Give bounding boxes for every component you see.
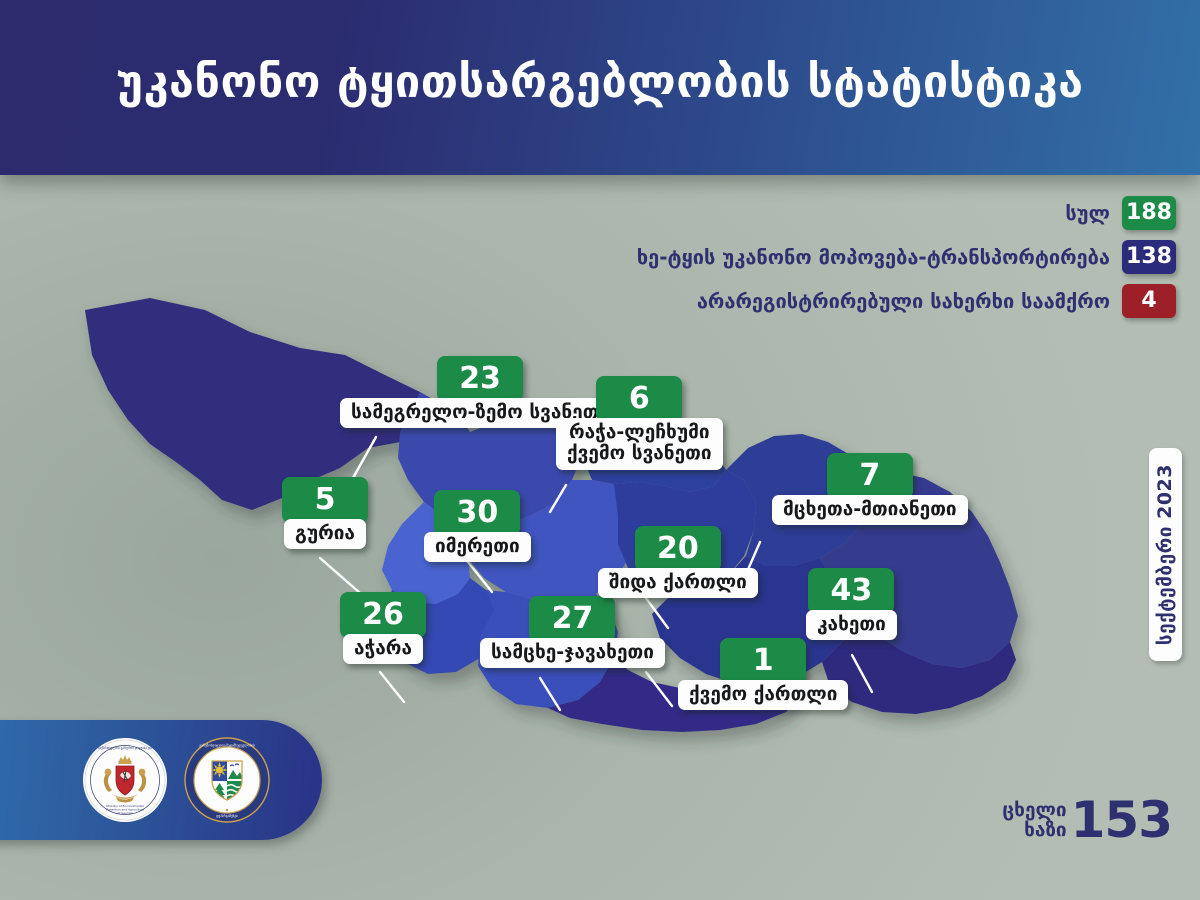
marker-value-adjara: 26: [340, 592, 426, 638]
marker-label-line1: რაჭა-ლეჩხუმი: [567, 422, 712, 443]
marker-label-kakheti: კახეთი: [806, 610, 897, 640]
marker-label-adjara: აჭარა: [343, 634, 423, 664]
marker-label-racha-lechkhumi-kvemo-svaneti: რაჭა-ლეჩხუმი ქვემო სვანეთი: [556, 418, 723, 470]
hotline-number: 153: [1071, 799, 1172, 842]
marker-mtskheta-mtianeti[interactable]: 7 მცხეთა-მთიანეთი: [772, 453, 968, 525]
marker-value-mtskheta-mtianeti: 7: [827, 453, 913, 499]
legend-row-total: სულ 188: [1065, 196, 1176, 230]
marker-value-imereti: 30: [434, 490, 520, 536]
hotline-line2: ხაზი: [1024, 821, 1067, 840]
legend-label-unregistered-sawmill: არარეგისტრირებული სახერხი საამქრო: [697, 291, 1110, 311]
marker-value-shida-kartli: 20: [635, 526, 721, 572]
legend-row-illegal-logging-transport: ხე-ტყის უკანონო მოპოვება-ტრანსპორტირება …: [637, 240, 1176, 274]
marker-value-guria: 5: [282, 477, 368, 523]
legend-badge-unregistered-sawmill: 4: [1122, 284, 1176, 318]
marker-racha-lechkhumi-kvemo-svaneti[interactable]: 6 რაჭა-ლეჩხუმი ქვემო სვანეთი: [556, 376, 723, 470]
marker-label-mtskheta-mtianeti: მცხეთა-მთიანეთი: [772, 495, 968, 525]
legend: სულ 188 ხე-ტყის უკანონო მოპოვება-ტრანსპო…: [637, 196, 1176, 318]
marker-label-guria: გურია: [284, 519, 366, 549]
legend-label-total: სულ: [1065, 203, 1110, 223]
date-tab: სექტემბერი 2023: [1149, 448, 1182, 661]
svg-text:დეპარტამენტი: დეპარტამენტი: [216, 814, 238, 818]
marker-label-samtskhe-javakheti: სამცხე-ჯავახეთი: [480, 638, 665, 668]
marker-label-shida-kartli: შიდა ქართლი: [598, 568, 758, 598]
marker-kakheti[interactable]: 43 კახეთი: [806, 568, 897, 640]
marker-guria[interactable]: 5 გურია: [282, 477, 368, 549]
marker-value-kakheti: 43: [808, 568, 894, 614]
hotline-words: ცხელი ხაზი: [1002, 801, 1066, 840]
marker-value-racha-lechkhumi-kvemo-svaneti: 6: [596, 376, 682, 422]
marker-value-kvemo-kartli: 1: [720, 638, 806, 684]
marker-imereti[interactable]: 30 იმერეთი: [424, 490, 531, 562]
header-banner: უკანონო ტყითსარგებლობის სტატისტიკა: [0, 0, 1200, 175]
marker-adjara[interactable]: 26 აჭარა: [340, 592, 426, 664]
ministry-of-environmental-protection-and-agriculture-of-georgia-seal: საქართველოს გარემოს დაცვისა და Ministry …: [82, 737, 168, 823]
marker-label-imereti: იმერეთი: [424, 532, 531, 562]
hotline-line1: ცხელი: [1002, 801, 1066, 820]
legend-badge-illegal-logging-transport: 138: [1122, 240, 1176, 274]
marker-label-line2: ქვემო სვანეთი: [567, 443, 712, 464]
marker-kvemo-kartli[interactable]: 1 ქვემო ქართლი: [678, 638, 848, 710]
svg-text:საქართველოს გარემოს დაცვისა და: საქართველოს გარემოს დაცვისა და: [98, 746, 153, 750]
legend-label-illegal-logging-transport: ხე-ტყის უკანონო მოპოვება-ტრანსპორტირება: [637, 247, 1110, 267]
marker-shida-kartli[interactable]: 20 შიდა ქართლი: [598, 526, 758, 598]
page-title: უკანონო ტყითსარგებლობის სტატისტიკა: [116, 59, 1083, 104]
marker-samtskhe-javakheti[interactable]: 27 სამცხე-ჯავახეთი: [480, 596, 665, 668]
marker-value-samegrelo-zemo-svaneti: 23: [437, 356, 523, 402]
logo-pill: საქართველოს გარემოს დაცვისა და Ministry …: [0, 720, 322, 840]
department-of-environmental-supervision-seal: გარემოსდაცვითი ზედამხედველობის დეპარტამე…: [184, 737, 270, 823]
marker-label-kvemo-kartli: ქვემო ქართლი: [678, 680, 848, 710]
legend-row-unregistered-sawmill: არარეგისტრირებული სახერხი საამქრო 4: [697, 284, 1176, 318]
date-label: სექტემბერი 2023: [1156, 464, 1175, 645]
hotline: ცხელი ხაზი 153: [1002, 799, 1172, 842]
marker-value-samtskhe-javakheti: 27: [529, 596, 615, 642]
legend-badge-total: 188: [1122, 196, 1176, 230]
svg-text:გარემოსდაცვითი ზედამხედველობის: გარემოსდაცვითი ზედამხედველობის: [199, 744, 255, 748]
svg-text:of Georgia: of Georgia: [117, 811, 132, 815]
